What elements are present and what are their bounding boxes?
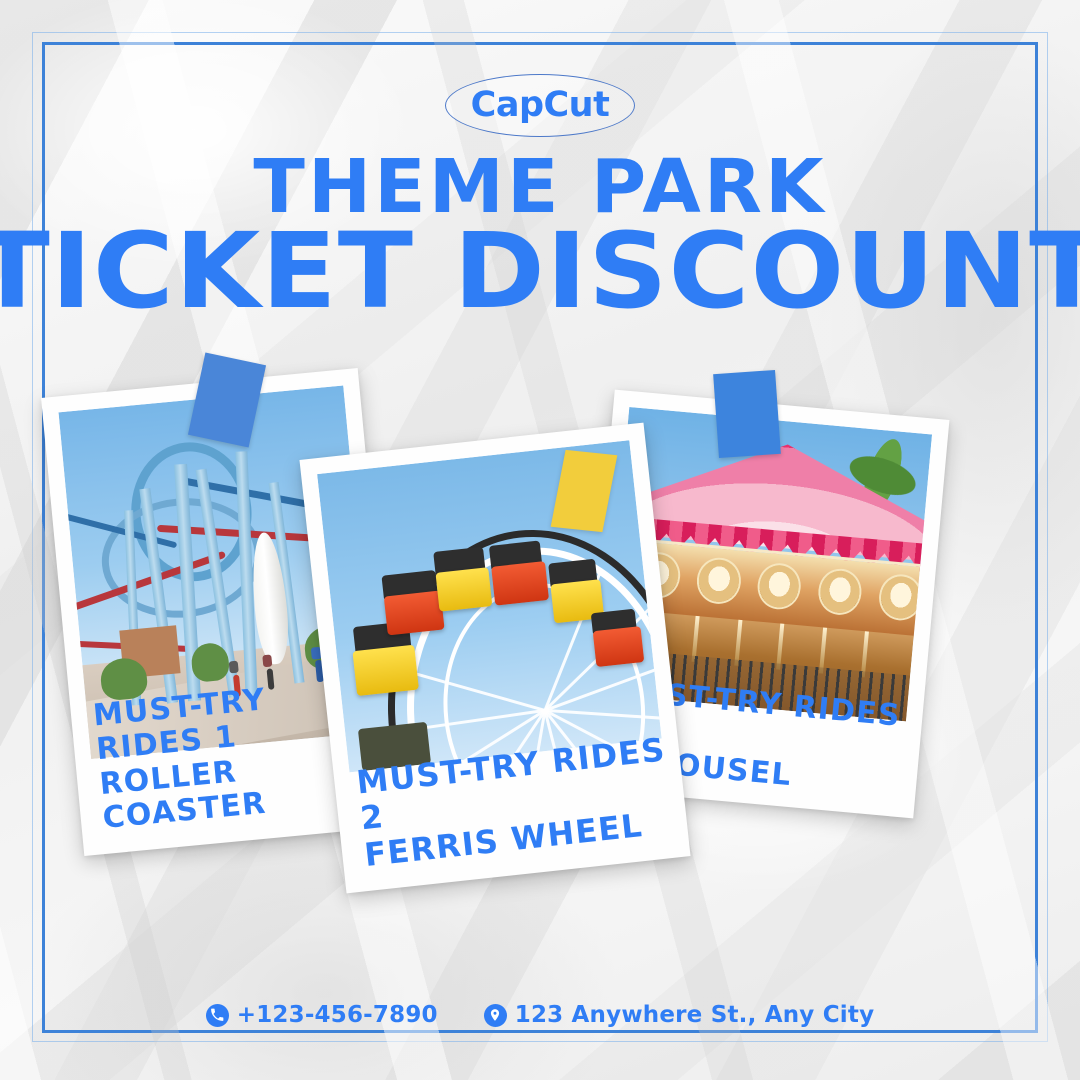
phone-number-text: +123-456-7890 — [237, 1002, 438, 1028]
location-pin-icon — [484, 1004, 507, 1027]
polaroid-card-ferris-wheel[interactable]: MUST-TRY RIDES 2 FERRIS WHEEL — [299, 423, 690, 894]
title-line-2: TICKET DISCOUNT — [0, 219, 1080, 323]
contact-phone[interactable]: +123-456-7890 — [206, 1002, 438, 1028]
poster-canvas: CapCut THEME PARK TICKET DISCOUNT — [0, 0, 1080, 1080]
address-text: 123 Anywhere St., Any City — [515, 1002, 875, 1028]
contact-footer: +123-456-7890 123 Anywhere St., Any City — [0, 1002, 1080, 1028]
capcut-logo-text: CapCut — [471, 88, 610, 123]
tape-blue-card3 — [713, 370, 781, 458]
capcut-logo-badge: CapCut — [445, 74, 635, 137]
contact-address[interactable]: 123 Anywhere St., Any City — [484, 1002, 875, 1028]
phone-icon — [206, 1004, 229, 1027]
page-title: THEME PARK TICKET DISCOUNT — [0, 150, 1080, 323]
